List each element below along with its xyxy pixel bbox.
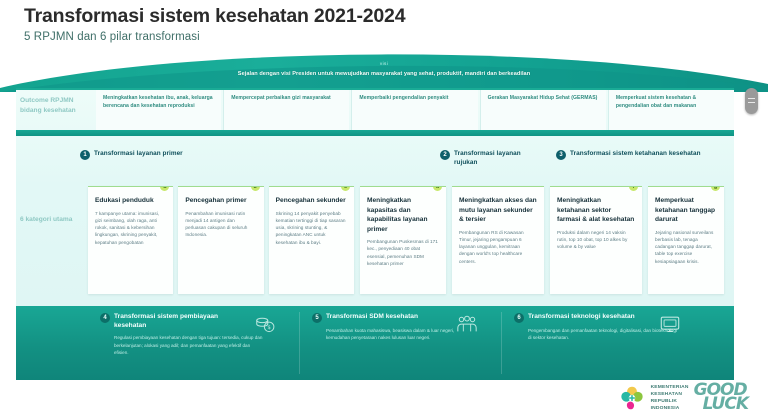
pillar-number-3: 3 (556, 150, 566, 160)
card-body-f: Produksi dalam negeri 14 vaksin rutin, t… (557, 229, 635, 251)
ministry-line-3: REPUBLIK (651, 398, 689, 405)
outcome-box-5[interactable]: Memperkuat sistem kesehatan & pengendali… (608, 90, 734, 130)
roof-shape-icon (0, 48, 768, 92)
bottom-pillar-body-4: Regulasi pembiayaan kesehatan dengan tig… (114, 334, 264, 356)
card-title-g: Memperkuat ketahanan tanggap darurat (655, 196, 717, 225)
rail-label-kategori: 6 kategori utama (20, 215, 80, 225)
outcome-strip-base (16, 130, 734, 136)
card-group-ketahanan-1: f Meningkatkan ketahanan sektor farmasi … (550, 186, 642, 294)
ministry-line-4: INDONESIA (651, 405, 689, 412)
page-subtitle: 5 RPJMN dan 6 pilar transformasi (24, 31, 200, 43)
good-luck-graffiti: GOOD LUCK (694, 384, 748, 412)
card-badge-f: f (629, 186, 638, 191)
rail-label-outcome: Outcome RPJMN bidang kesehatan (20, 96, 80, 115)
pillar-title-3: Transformasi sistem ketahanan kesehatan (570, 149, 701, 158)
visi-statement: Sejalan dengan visi Presiden untuk mewuj… (0, 71, 768, 77)
card-title-a: Edukasi penduduk (95, 196, 166, 206)
bottom-pillar-5[interactable]: 5 Transformasi SDM kesehatan Penambahan … (312, 312, 502, 374)
card-body-g: Jejaring nasional surveilans berbasis la… (655, 229, 717, 265)
bottom-pillar-body-5: Penambahan kuota mahasiswa, beasiswa dal… (326, 327, 476, 342)
people-group-icon (455, 314, 479, 336)
card-title-b: Pencegahan primer (185, 196, 256, 206)
good-luck-line-2: LUCK (703, 398, 748, 412)
infographic-canvas: Transformasi sistem kesehatan 2021-2024 … (0, 0, 768, 420)
page-title: Transformasi sistem kesehatan 2021-2024 (24, 5, 405, 28)
outcome-strip: Meningkatkan kesehatan ibu, anak, keluar… (96, 90, 734, 130)
card-group-ketahanan-2: g Memperkuat ketahanan tanggap darurat J… (648, 186, 724, 294)
card-g[interactable]: g Memperkuat ketahanan tanggap darurat J… (648, 186, 724, 294)
kemenkes-wordmark: KEMENTERIAN KESEHATAN REPUBLIK INDONESIA (651, 384, 689, 412)
card-group-primer-2: d Meningkatkan kapasitas dan kapabilitas… (360, 186, 446, 294)
card-title-f: Meningkatkan ketahanan sektor farmasi & … (557, 196, 635, 225)
kemenkes-flower-logo-icon (618, 384, 646, 412)
card-body-c: Skrining 14 penyakit penyebab kematian t… (276, 210, 347, 246)
card-a[interactable]: a Edukasi penduduk 7 kampanye utama: imu… (88, 186, 173, 294)
card-title-d: Meningkatkan kapasitas dan kapabilitas l… (367, 196, 439, 234)
visi-label: visi (0, 61, 768, 66)
card-badge-c: c (341, 186, 350, 191)
card-group-rujukan: Meningkatkan akses dan mutu layanan seku… (452, 186, 544, 294)
bottom-pillar-number-4: 4 (100, 313, 110, 323)
card-body-d: Pembangunan Puskesmas di 171 kec., penye… (367, 238, 439, 267)
outcome-box-1[interactable]: Meningkatkan kesehatan ibu, anak, keluar… (96, 90, 221, 130)
coins-icon: $ (253, 314, 277, 336)
outcome-box-2[interactable]: Mempercepat perbaikan gizi masyarakat (223, 90, 349, 130)
ministry-line-2: KESEHATAN (651, 391, 689, 398)
bottom-pillar-title-6: Transformasi teknologi kesehatan (528, 312, 635, 321)
bottom-pillar-4[interactable]: 4 Transformasi sistem pembiayaan kesehat… (100, 312, 300, 374)
card-f[interactable]: f Meningkatkan ketahanan sektor farmasi … (550, 186, 642, 294)
card-badge-d: d (433, 186, 442, 191)
bottom-pillar-title-4: Transformasi sistem pembiayaan kesehatan (114, 312, 234, 330)
card-badge-b: b (251, 186, 260, 191)
kemenkes-logo-block: KEMENTERIAN KESEHATAN REPUBLIK INDONESIA… (618, 384, 748, 412)
roof-pediment: visi Sejalan dengan visi Presiden untuk … (0, 48, 768, 92)
pillar-number-2: 2 (440, 150, 450, 160)
scroll-grip-line-2 (748, 102, 755, 103)
outcome-box-4[interactable]: Gerakan Masyarakat Hidup Sehat (GERMAS) (480, 90, 606, 130)
bottom-pillar-number-6: 6 (514, 313, 524, 323)
header: Transformasi sistem kesehatan 2021-2024 … (0, 0, 768, 52)
bottom-pillar-body-6: Pengembangan dan pemanfaatan teknologi, … (528, 327, 678, 342)
bottom-pillar-title-5: Transformasi SDM kesehatan (326, 312, 418, 321)
card-title-c: Pencegahan sekunder (276, 196, 347, 206)
pillar-header-1[interactable]: 1 Transformasi layanan primer (80, 149, 420, 171)
pillar-number-1: 1 (80, 150, 90, 160)
card-body-a: 7 kampanye utama: imunisasi, gizi seimba… (95, 210, 166, 246)
pillar-title-2: Transformasi layanan rujukan (454, 149, 545, 167)
pillar-title-1: Transformasi layanan primer (94, 149, 183, 158)
scrollbar-thumb[interactable] (745, 88, 758, 114)
ministry-line-1: KEMENTERIAN (651, 384, 689, 391)
bottom-pillar-number-5: 5 (312, 313, 322, 323)
pillar-header-2[interactable]: 2 Transformasi layanan rujukan (440, 149, 545, 171)
monitor-icon (658, 314, 682, 336)
card-badge-g: g (711, 186, 720, 191)
bottom-pillar-6[interactable]: 6 Transformasi teknologi kesehatan Penge… (514, 312, 704, 374)
card-d[interactable]: d Meningkatkan kapasitas dan kapabilitas… (360, 186, 446, 294)
card-c[interactable]: c Pencegahan sekunder Skrining 14 penyak… (269, 186, 354, 294)
card-badge-a: a (160, 186, 169, 191)
card-e[interactable]: Meningkatkan akses dan mutu layanan seku… (452, 186, 544, 294)
outcome-box-3[interactable]: Memperbaiki pengendalian penyakit (351, 90, 477, 130)
card-group-primer-1: a Edukasi penduduk 7 kampanye utama: imu… (88, 186, 354, 294)
svg-text:$: $ (267, 325, 271, 331)
pillar-header-3[interactable]: 3 Transformasi sistem ketahanan kesehata… (556, 149, 706, 171)
card-b[interactable]: b Pencegahan primer Penambahan imunisasi… (178, 186, 263, 294)
card-title-e: Meningkatkan akses dan mutu layanan seku… (459, 196, 537, 225)
card-body-e: Pembangunan RS di Kawasan Timur, jejarin… (459, 229, 537, 265)
card-body-b: Penambahan imunisasi rutin menjadi 14 an… (185, 210, 256, 239)
scroll-grip-line-1 (748, 98, 755, 99)
